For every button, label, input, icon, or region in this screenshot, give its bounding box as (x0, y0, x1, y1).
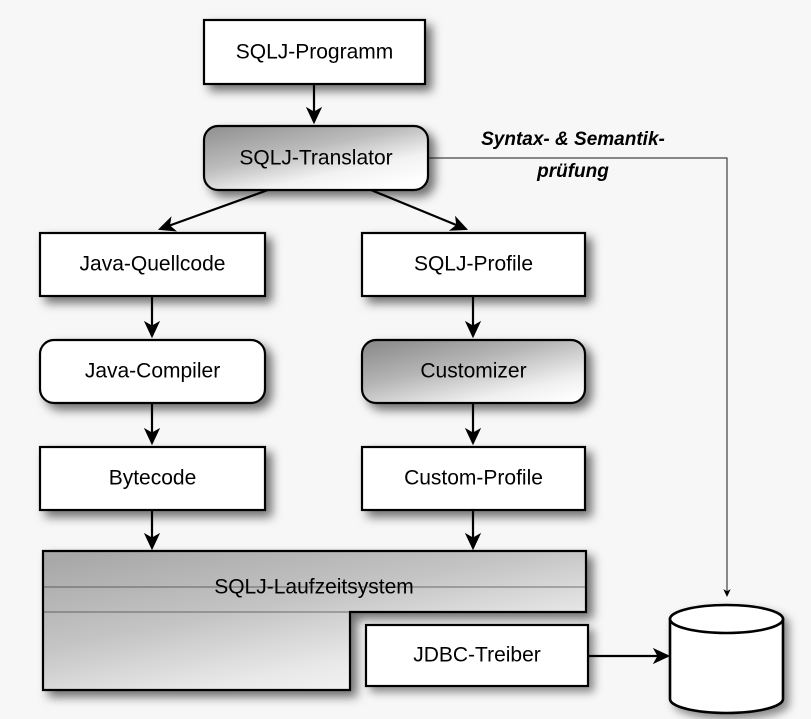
node-customizer[interactable]: Customizer (362, 340, 585, 403)
node-custom-profile-label: Custom-Profile (404, 467, 543, 490)
node-sqlj-programm-label: SQLJ-Programm (236, 41, 394, 64)
edge-label-syntax-check-line2: prüfung (536, 161, 609, 182)
node-bytecode[interactable]: Bytecode (40, 447, 265, 510)
node-sqlj-programm[interactable]: SQLJ-Programm (204, 20, 425, 84)
node-jdbc-treiber[interactable]: JDBC-Treiber (366, 625, 588, 686)
edge-translator-quellcode (160, 190, 268, 229)
node-java-quellcode[interactable]: Java-Quellcode (40, 233, 265, 296)
edge-label-syntax-check-line1: Syntax- & Semantik- (481, 129, 665, 150)
node-sqlj-profile[interactable]: SQLJ-Profile (362, 233, 585, 296)
database-cylinder-top (670, 605, 783, 633)
node-datenbank[interactable] (670, 605, 783, 713)
node-sqlj-laufzeitsystem-label: SQLJ-Laufzeitsystem (214, 576, 414, 599)
node-java-quellcode-label: Java-Quellcode (80, 253, 226, 276)
node-java-compiler[interactable]: Java-Compiler (40, 340, 265, 403)
node-custom-profile[interactable]: Custom-Profile (362, 447, 585, 510)
diagram-canvas: SQLJ-Programm SQLJ-Translator Java-Quell… (0, 0, 811, 719)
node-sqlj-translator-label: SQLJ-Translator (239, 147, 392, 170)
node-sqlj-profile-label: SQLJ-Profile (414, 253, 533, 276)
sqlj-architecture-diagram: SQLJ-Programm SQLJ-Translator Java-Quell… (0, 0, 811, 719)
edge-label-syntax-check: Syntax- & Semantik- prüfung (481, 129, 665, 182)
node-customizer-label: Customizer (420, 360, 526, 383)
edge-translator-profile (371, 190, 466, 229)
node-java-compiler-label: Java-Compiler (85, 360, 220, 383)
node-bytecode-label: Bytecode (109, 467, 197, 490)
node-sqlj-translator[interactable]: SQLJ-Translator (204, 126, 428, 190)
node-jdbc-treiber-label: JDBC-Treiber (413, 644, 541, 667)
